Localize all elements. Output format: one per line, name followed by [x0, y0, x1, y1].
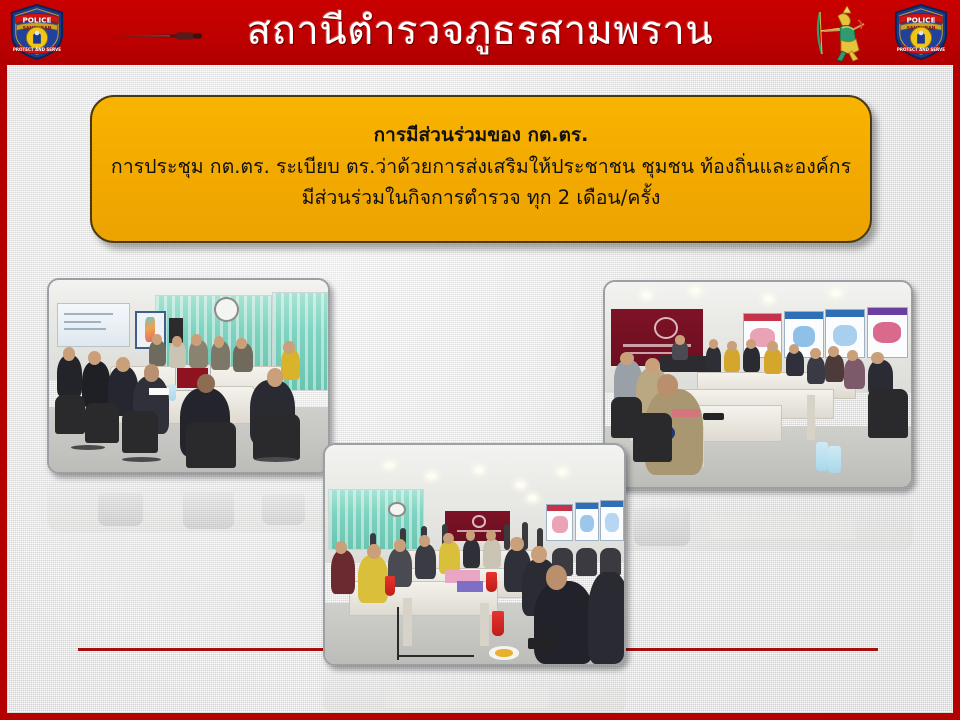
- photo-meeting-room-2[interactable]: [603, 280, 913, 489]
- callout-line-1: การมีส่วนร่วมของ กต.ตร.: [374, 120, 589, 151]
- svg-text:PROTECT AND SERVE: PROTECT AND SERVE: [13, 47, 61, 52]
- frame-edge-left: [0, 65, 7, 720]
- slide: POLICE SAMPHRAN PROTECT AND SERVE สถานีต…: [0, 0, 960, 720]
- police-badge-icon-right: POLICE SAMPHRAN PROTECT AND SERVE: [892, 3, 950, 61]
- frame-edge-bottom: [0, 713, 960, 720]
- photo-meeting-room-3[interactable]: [323, 443, 626, 666]
- police-badge-icon-left: POLICE SAMPHRAN PROTECT AND SERVE: [8, 3, 66, 61]
- callout-line-2: การประชุม กต.ตร. ระเบียบ ตร.ว่าด้วยการส่…: [111, 151, 851, 183]
- svg-text:PROTECT AND SERVE: PROTECT AND SERVE: [897, 47, 945, 52]
- callout-box: การมีส่วนร่วมของ กต.ตร. การประชุม กต.ตร.…: [90, 95, 872, 243]
- callout-line-3: มีส่วนร่วมในกิจการตำรวจ ทุก 2 เดือน/ครั้…: [302, 182, 661, 214]
- photo-meeting-room-1[interactable]: [47, 278, 330, 474]
- header-banner: POLICE SAMPHRAN PROTECT AND SERVE สถานีต…: [0, 0, 960, 65]
- dagger-ornament-icon: [108, 27, 206, 39]
- thai-archer-icon: [814, 4, 870, 62]
- frame-edge-right: [953, 65, 960, 720]
